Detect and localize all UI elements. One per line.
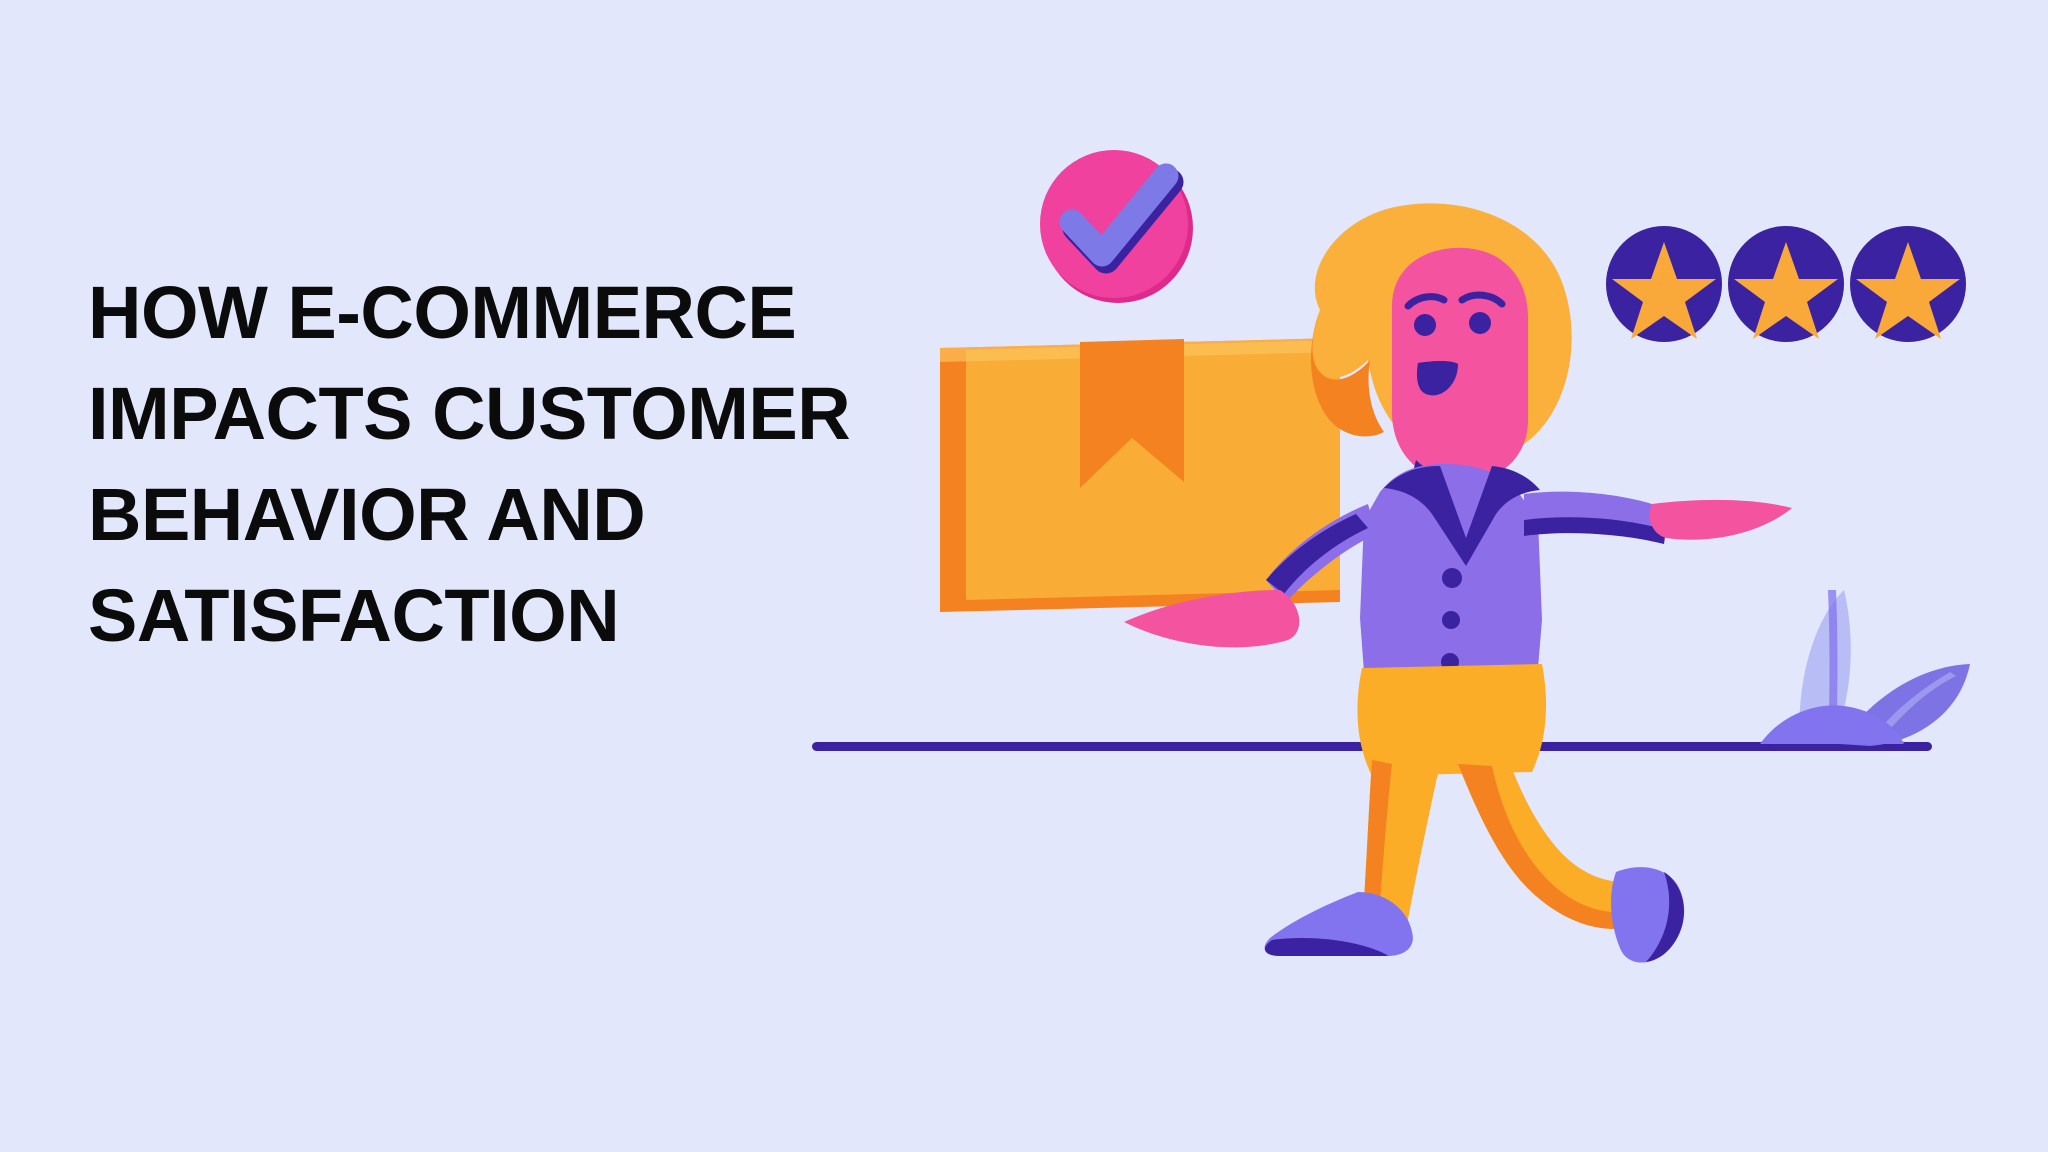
check-badge-icon [1040, 150, 1193, 303]
eye-left [1414, 314, 1436, 336]
star-circle-2 [1728, 226, 1844, 342]
shirt-button-2 [1442, 611, 1460, 629]
eye-right [1469, 312, 1491, 334]
pants-hip [1357, 664, 1546, 776]
shirt-button-1 [1442, 568, 1462, 588]
hand-right [1650, 500, 1792, 540]
star-circle-1 [1606, 226, 1722, 342]
star-rating [1606, 226, 1966, 342]
banner-canvas: HOW E-COMMERCE IMPACTS CUSTOMER BEHAVIOR… [0, 0, 2048, 1152]
hero-illustration [780, 120, 2048, 1152]
star-circle-3 [1850, 226, 1966, 342]
face [1392, 248, 1528, 482]
plant-icon [1760, 590, 1970, 746]
